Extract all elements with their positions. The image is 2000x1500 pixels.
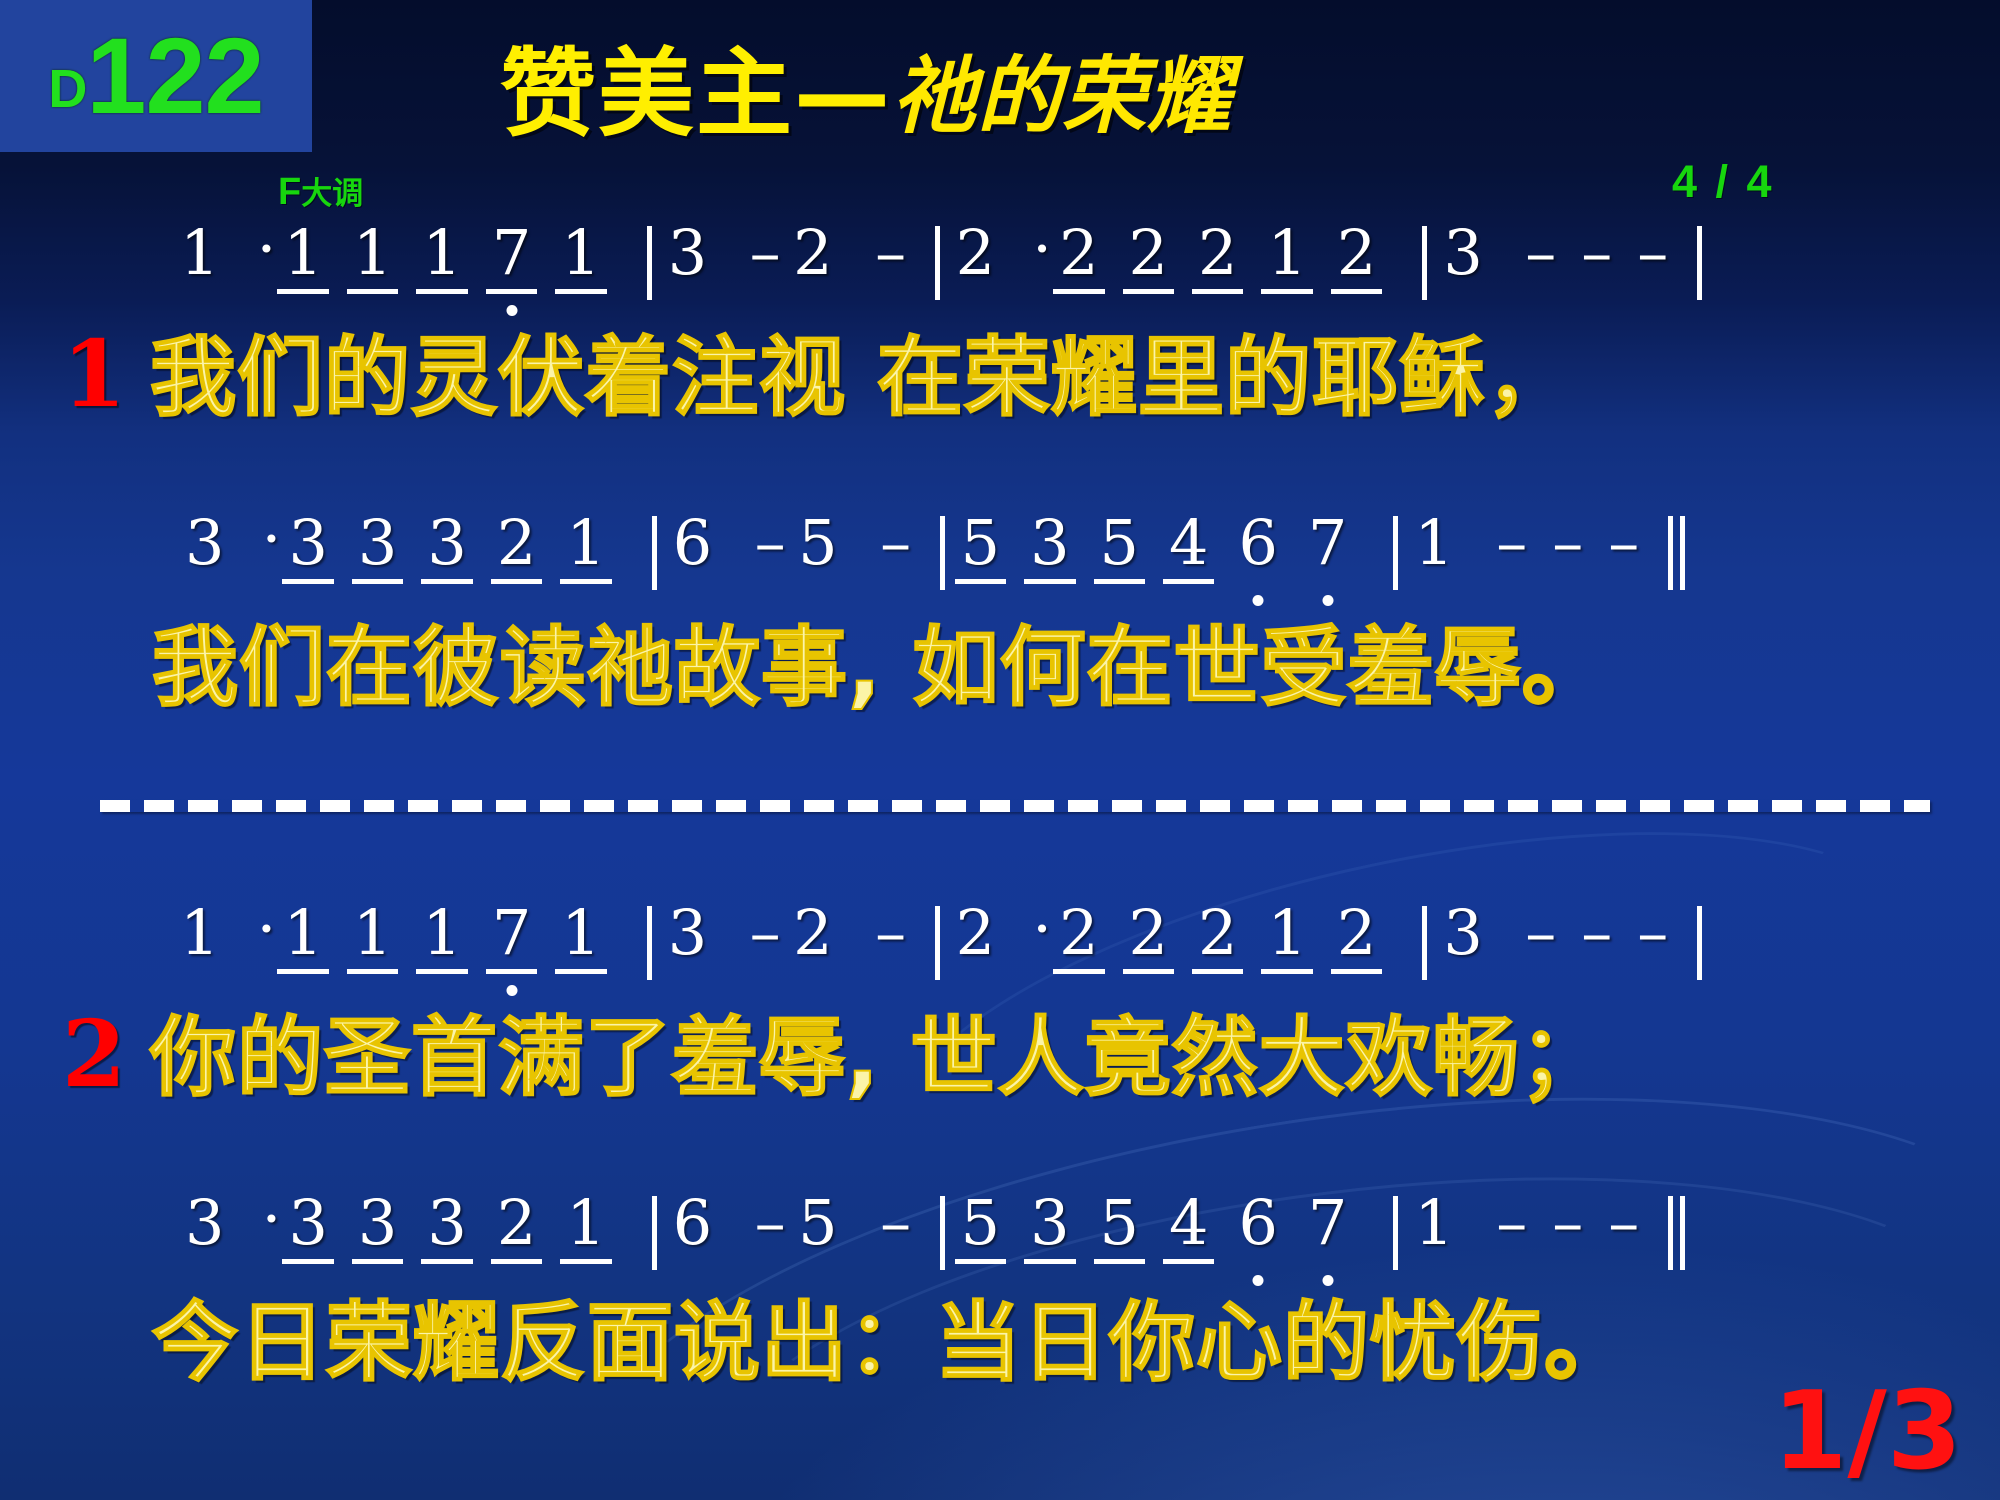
sustain-dash: – [1625,902,1681,964]
sustain-dash: – [1484,1192,1540,1254]
note-3: 3 [288,1192,327,1268]
note-4: 4 [1169,1192,1208,1268]
sustain-dash: – [742,1192,798,1254]
sustain-dash: – [1513,222,1569,284]
note-2: 2 [497,1192,536,1268]
sustain-dash: – [863,902,919,964]
note-5: 5 [798,512,837,588]
sustain-dash: – [1540,1192,1596,1254]
sustain-dash: – [1596,512,1652,574]
note-3: 3 [1030,512,1069,588]
note-3: 3 [185,1192,224,1268]
sustain-dash: – [1540,512,1596,574]
sustain-dash: – [742,512,798,574]
verse-divider [100,800,1930,812]
duration-dot: · [249,218,283,280]
note-1: 1 [566,512,605,588]
note-2: 2 [497,512,536,588]
note-5: 5 [961,1192,1000,1268]
note-1: 1 [1414,1192,1453,1268]
key-signature-letter: F [278,171,301,213]
barline [1422,226,1427,300]
barline [652,516,657,590]
note-3: 3 [288,512,327,588]
sustain-dash: – [1569,222,1625,284]
note-7: 7 [1308,512,1347,588]
note-2: 2 [1337,222,1376,298]
sustain-dash: – [1513,902,1569,964]
sustain-dash: – [1596,1192,1652,1254]
note-2: 2 [1059,222,1098,298]
duration-dot: · [249,898,283,960]
hymn-slide: D122 赞美主—祂的荣耀 F大调 4 / 4 1·111713–2–2·222… [0,0,2000,1500]
note-3: 3 [1443,902,1482,978]
barline [940,516,945,590]
note-1: 1 [283,222,322,298]
note-7: 7 [492,222,531,298]
note-5: 5 [1100,512,1139,588]
note-3: 3 [1030,1192,1069,1268]
note-6: 6 [673,512,712,588]
end-barline [1668,516,1685,600]
barline [1393,1196,1398,1270]
key-signature-word: 大调 [301,176,363,211]
note-3: 3 [358,512,397,588]
note-2: 2 [1059,902,1098,978]
low-octave-dot [1253,1275,1264,1286]
duration-dot: · [254,1188,288,1250]
note-1: 1 [566,1192,605,1268]
note-1: 1 [1267,902,1306,978]
note-1: 1 [353,902,392,978]
low-octave-dot [1322,595,1333,606]
low-octave-dot [506,985,517,996]
low-octave-dot [1253,595,1264,606]
notation-line-2: 3·333216–5–5354671––– [185,512,1685,596]
duration-dot: · [1025,898,1059,960]
hymn-number-badge-text: D122 [0,0,312,152]
note-1: 1 [422,902,461,978]
low-octave-dot [1322,1275,1333,1286]
barline [1393,516,1398,590]
end-barline [1668,1196,1685,1280]
note-4: 4 [1169,512,1208,588]
sustain-dash: – [1484,512,1540,574]
sustain-dash: – [863,222,919,284]
notation-line-4: 3·333216–5–5354671––– [185,1192,1685,1276]
verse-number-1: 1 [62,328,126,420]
page-indicator: 1/3 [1772,1378,1962,1486]
note-1: 1 [353,222,392,298]
verse-1-line-1: 我们的灵伏着注视 在荣耀里的耶稣， [150,335,1573,421]
sustain-dash: – [868,512,924,574]
note-6: 6 [673,1192,712,1268]
barline [1422,906,1427,980]
notation-line-1: 1·111713–2–2·222123––– [180,222,1718,298]
note-2: 2 [1198,902,1237,978]
note-1: 1 [1414,512,1453,588]
note-2: 2 [956,222,995,298]
note-5: 5 [798,1192,837,1268]
note-2: 2 [793,222,832,298]
notation-line-3: 1·111713–2–2·222123––– [180,902,1718,978]
barline [935,906,940,980]
sustain-dash: – [868,1192,924,1254]
low-octave-dot [506,305,517,316]
note-5: 5 [1100,1192,1139,1268]
note-2: 2 [956,902,995,978]
note-5: 5 [961,512,1000,588]
note-1: 1 [422,222,461,298]
time-signature: 4 / 4 [1672,156,1775,208]
note-1: 1 [283,902,322,978]
barline [940,1196,945,1270]
barline [647,226,652,300]
sustain-dash: – [737,902,793,964]
key-signature: F大调 [278,168,363,214]
barline [1697,226,1702,300]
barline [935,226,940,300]
note-2: 2 [1129,902,1168,978]
note-1: 1 [180,902,219,978]
barline [1697,906,1702,980]
note-1: 1 [561,902,600,978]
note-3: 3 [668,222,707,298]
note-2: 2 [1337,902,1376,978]
verse-1-line-2: 我们在彼读祂故事, 如何在世受羞辱。 [152,625,1609,711]
note-6: 6 [1238,1192,1277,1268]
page-title: 赞美主—祂的荣耀 [500,25,1600,145]
note-6: 6 [1238,512,1277,588]
verse-2-line-2: 今日荣耀反面说出：当日你心的忧伤。 [152,1300,1631,1386]
note-2: 2 [1129,222,1168,298]
barline [647,906,652,980]
note-2: 2 [793,902,832,978]
note-2: 2 [1198,222,1237,298]
barline [652,1196,657,1270]
hymn-number-value: 122 [86,22,263,130]
note-3: 3 [668,902,707,978]
hymn-number-prefix: D [48,62,86,116]
page-title-subtitle: 祂的荣耀 [892,29,1232,150]
note-1: 1 [180,222,219,298]
note-7: 7 [492,902,531,978]
verse-2-line-1: 你的圣首满了羞辱, 世人竟然大欢畅； [150,1015,1607,1101]
note-3: 3 [1443,222,1482,298]
note-1: 1 [1267,222,1306,298]
duration-dot: · [1025,218,1059,280]
sustain-dash: – [1625,222,1681,284]
note-1: 1 [561,222,600,298]
duration-dot: · [254,508,288,570]
note-3: 3 [185,512,224,588]
note-3: 3 [427,512,466,588]
note-3: 3 [358,1192,397,1268]
note-3: 3 [427,1192,466,1268]
sustain-dash: – [1569,902,1625,964]
sustain-dash: – [737,222,793,284]
page-title-main: 赞美主— [500,16,892,155]
note-7: 7 [1308,1192,1347,1268]
hymn-number-badge: D122 [0,0,312,152]
verse-number-2: 2 [62,1008,126,1100]
